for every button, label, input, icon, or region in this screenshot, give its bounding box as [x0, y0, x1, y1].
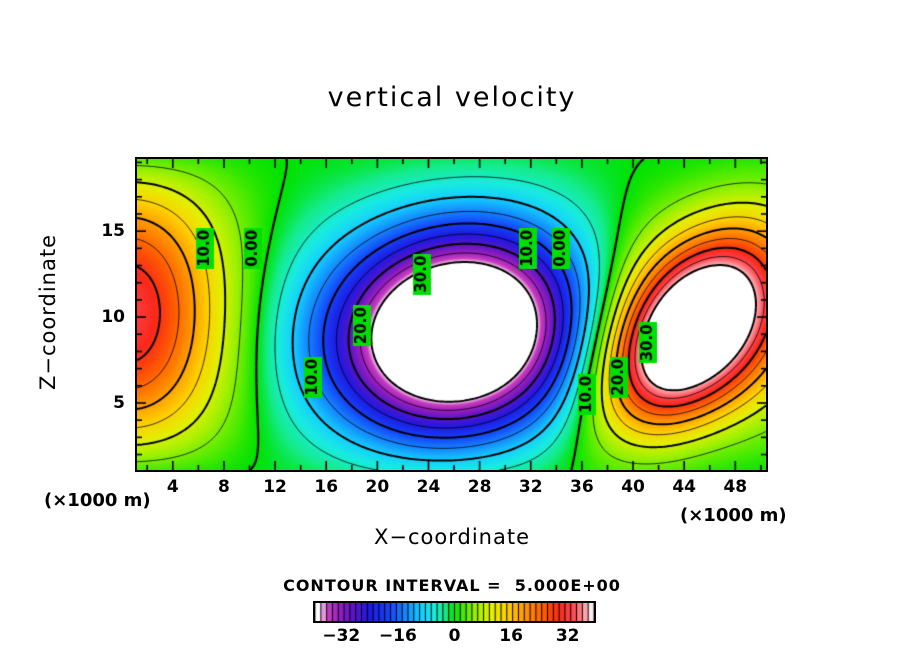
y-tick-label: 10 — [91, 307, 125, 327]
x-tick-label: 12 — [255, 477, 295, 497]
colorbar — [313, 601, 596, 623]
x-tick-label: 8 — [204, 477, 244, 497]
x-tick-label: 28 — [460, 477, 500, 497]
x-tick-label: 16 — [306, 477, 346, 497]
colorbar-tick-label: 32 — [545, 626, 591, 646]
x-tick-label: 4 — [153, 477, 193, 497]
colorbar-tick-label: 0 — [432, 626, 478, 646]
x-tick-label: 44 — [664, 477, 704, 497]
colorbar-tick-label: −32 — [318, 626, 364, 646]
x-tick-label: 24 — [408, 477, 448, 497]
x-tick-label: 48 — [715, 477, 755, 497]
contour-plot-figure: vertical velocity Z−coordinate X−coordin… — [0, 0, 904, 654]
colorbar-tick-label: −16 — [375, 626, 421, 646]
y-tick-label: 5 — [91, 393, 125, 413]
y-tick-label: 15 — [91, 221, 125, 241]
y-axis-units: (×1000 m) — [44, 490, 151, 511]
y-axis-title: Z−coordinate — [36, 232, 60, 392]
x-tick-label: 20 — [357, 477, 397, 497]
colorbar-tick-label: 16 — [488, 626, 534, 646]
x-tick-label: 40 — [613, 477, 653, 497]
contour-field-canvas — [137, 159, 766, 470]
x-axis-title: X−coordinate — [0, 525, 904, 549]
x-tick-label: 32 — [511, 477, 551, 497]
colorbar-gradient — [315, 603, 594, 621]
x-axis-units: (×1000 m) — [680, 505, 787, 526]
plot-area — [135, 157, 768, 472]
x-tick-label: 36 — [562, 477, 602, 497]
contour-interval-caption: CONTOUR INTERVAL = 5.000E+00 — [0, 576, 904, 595]
figure-title: vertical velocity — [0, 82, 904, 113]
